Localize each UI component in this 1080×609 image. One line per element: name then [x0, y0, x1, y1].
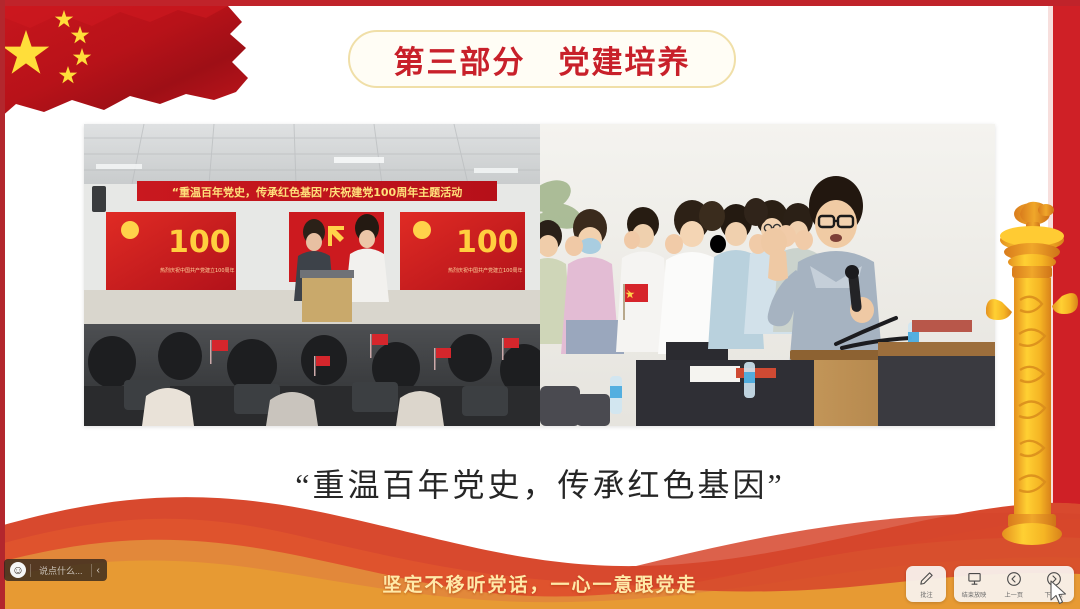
pencil-icon	[919, 570, 934, 587]
slide-canvas: “重温百年党史，传承红色基因”庆祝建党100周年主题活动 100 热烈庆祝中国共…	[0, 0, 1080, 609]
party-oath-ceremony-photo	[540, 124, 995, 426]
prev-page-button[interactable]: 上一页	[994, 566, 1034, 602]
chat-input-bar[interactable]: ☺ 说点什么... ‹	[4, 559, 107, 581]
end-show-label: 结束放映	[962, 589, 987, 599]
svg-text:“重温百年党史，传承红色基因”庆祝建党100周年主题活动: “重温百年党史，传承红色基因”庆祝建党100周年主题活动	[172, 185, 462, 199]
chevron-left-circle-icon	[1006, 570, 1022, 587]
next-page-label: 下一页	[1045, 589, 1064, 599]
huabiao-column-decoration	[986, 196, 1078, 546]
photo-row: “重温百年党史，传承红色基因”庆祝建党100周年主题活动 100 热烈庆祝中国共…	[84, 124, 995, 426]
annotate-button[interactable]: 批注	[906, 566, 946, 602]
presenter-toolbar: 批注 结束放映	[906, 566, 1074, 602]
navigation-panel: 结束放映 上一页 下一页	[954, 566, 1074, 602]
prev-page-label: 上一页	[1005, 589, 1024, 599]
chat-collapse-button[interactable]: ‹	[92, 565, 105, 576]
section-title-pill: 第三部分 党建培养	[348, 30, 736, 88]
smiley-icon[interactable]: ☺	[10, 562, 26, 578]
end-show-button[interactable]: 结束放映	[954, 566, 994, 602]
annotate-label: 批注	[920, 589, 932, 599]
next-page-button[interactable]: 下一页	[1034, 566, 1074, 602]
chevron-right-circle-icon	[1046, 570, 1062, 587]
party-history-lecture-photo: “重温百年党史，传承红色基因”庆祝建党100周年主题活动 100 热烈庆祝中国共…	[84, 124, 540, 426]
chat-input[interactable]: 说点什么...	[31, 564, 91, 577]
page-title: 第三部分 党建培养	[394, 37, 691, 82]
svg-text:热烈庆祝中国共产党建立100周年: 热烈庆祝中国共产党建立100周年	[448, 267, 523, 274]
projector-screen-icon	[967, 570, 982, 587]
svg-text:100: 100	[168, 225, 231, 260]
annotate-panel: 批注	[906, 566, 946, 602]
top-red-border	[0, 0, 1080, 6]
left-red-border	[0, 0, 5, 609]
svg-text:100: 100	[456, 225, 519, 260]
svg-text:热烈庆祝中国共产党建立100周年: 热烈庆祝中国共产党建立100周年	[160, 267, 235, 274]
china-flag-decoration	[0, 0, 290, 125]
